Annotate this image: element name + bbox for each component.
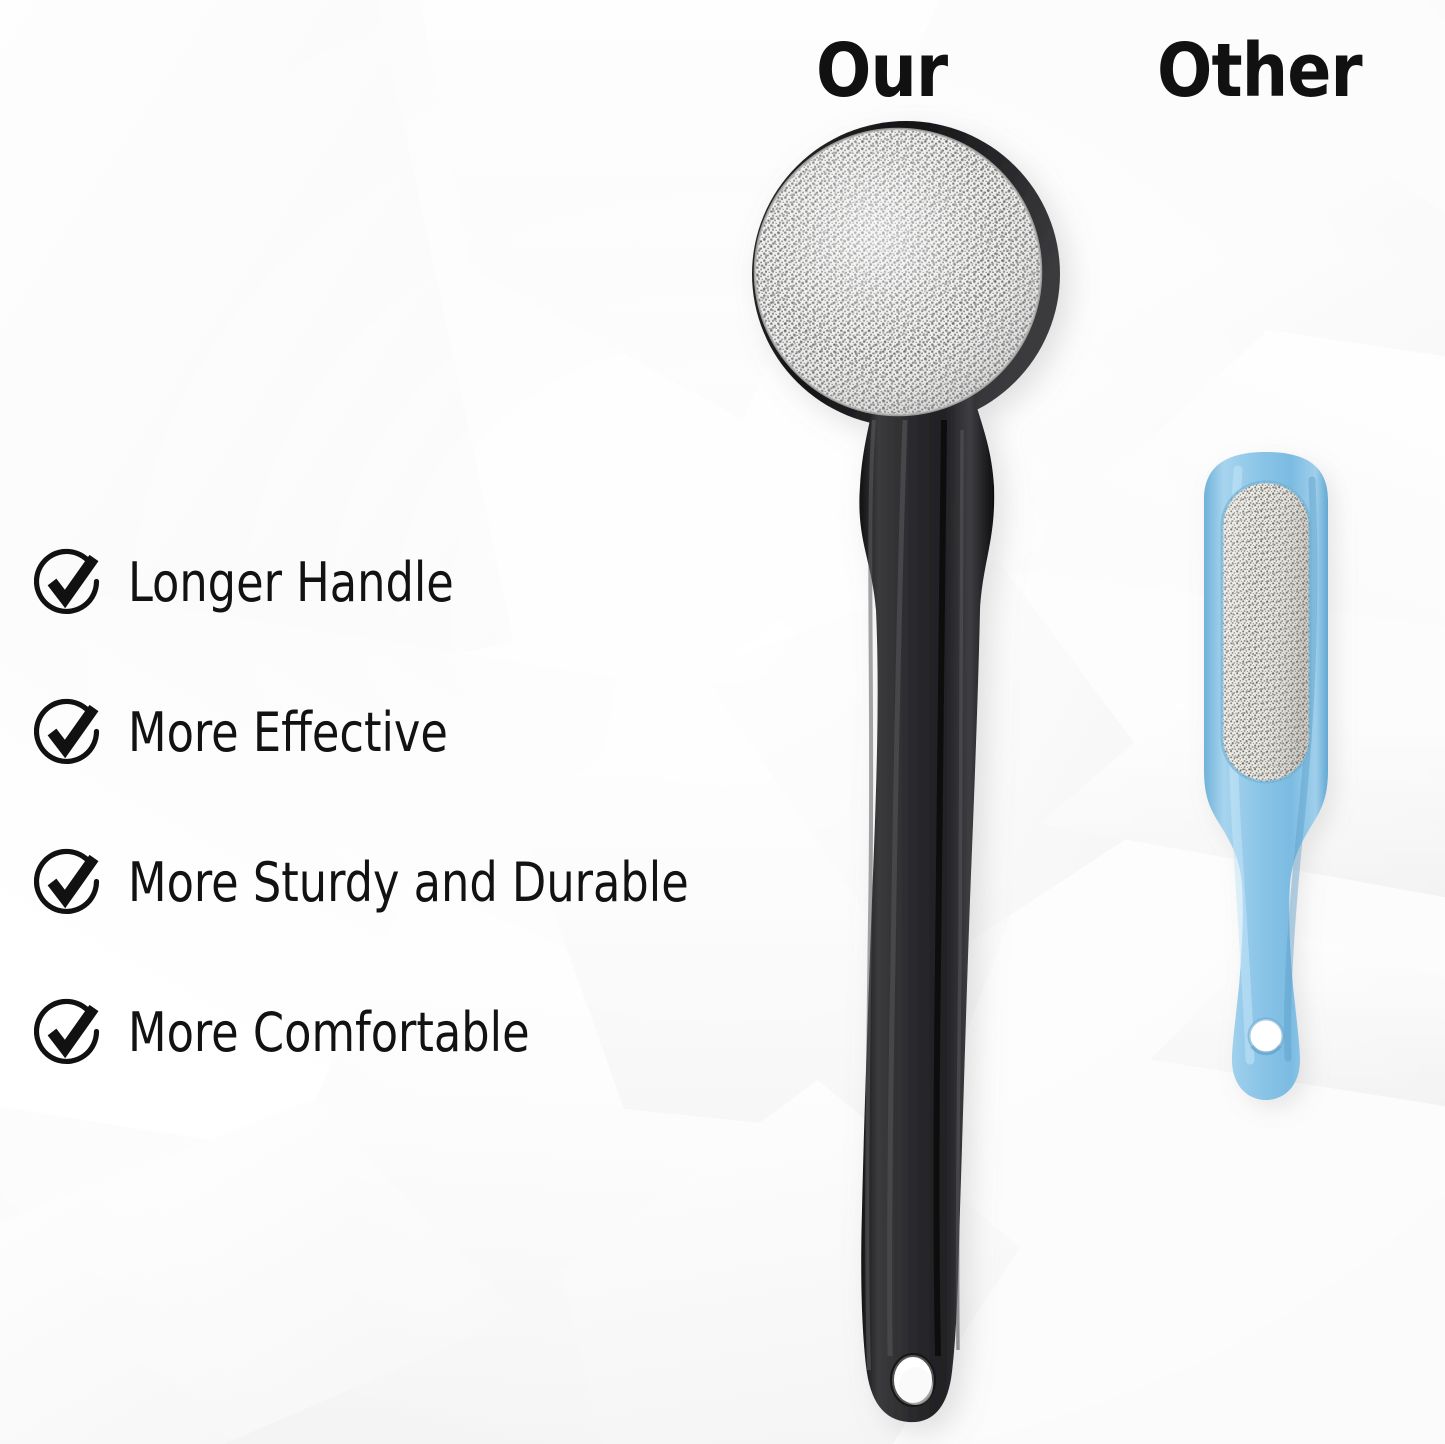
feature-label: More Comfortable — [128, 1006, 530, 1060]
check-circle-icon — [34, 997, 106, 1069]
check-circle-icon — [34, 697, 106, 769]
feature-item: More Effective — [34, 658, 794, 808]
check-circle-icon — [34, 847, 106, 919]
check-circle-icon — [34, 547, 106, 619]
feature-item: Longer Handle — [34, 508, 794, 658]
feature-item: More Comfortable — [34, 958, 794, 1108]
header-other: Other — [1157, 34, 1362, 108]
feature-label: Longer Handle — [128, 556, 454, 610]
feature-label: More Effective — [128, 706, 448, 760]
feature-list: Longer Handle More Effective More Sturdy… — [34, 508, 794, 1108]
feature-label: More Sturdy and Durable — [128, 856, 689, 910]
header-our: Our — [816, 34, 947, 108]
product-comparison-image: Our Other — [0, 0, 1445, 1444]
feature-item: More Sturdy and Durable — [34, 808, 794, 958]
